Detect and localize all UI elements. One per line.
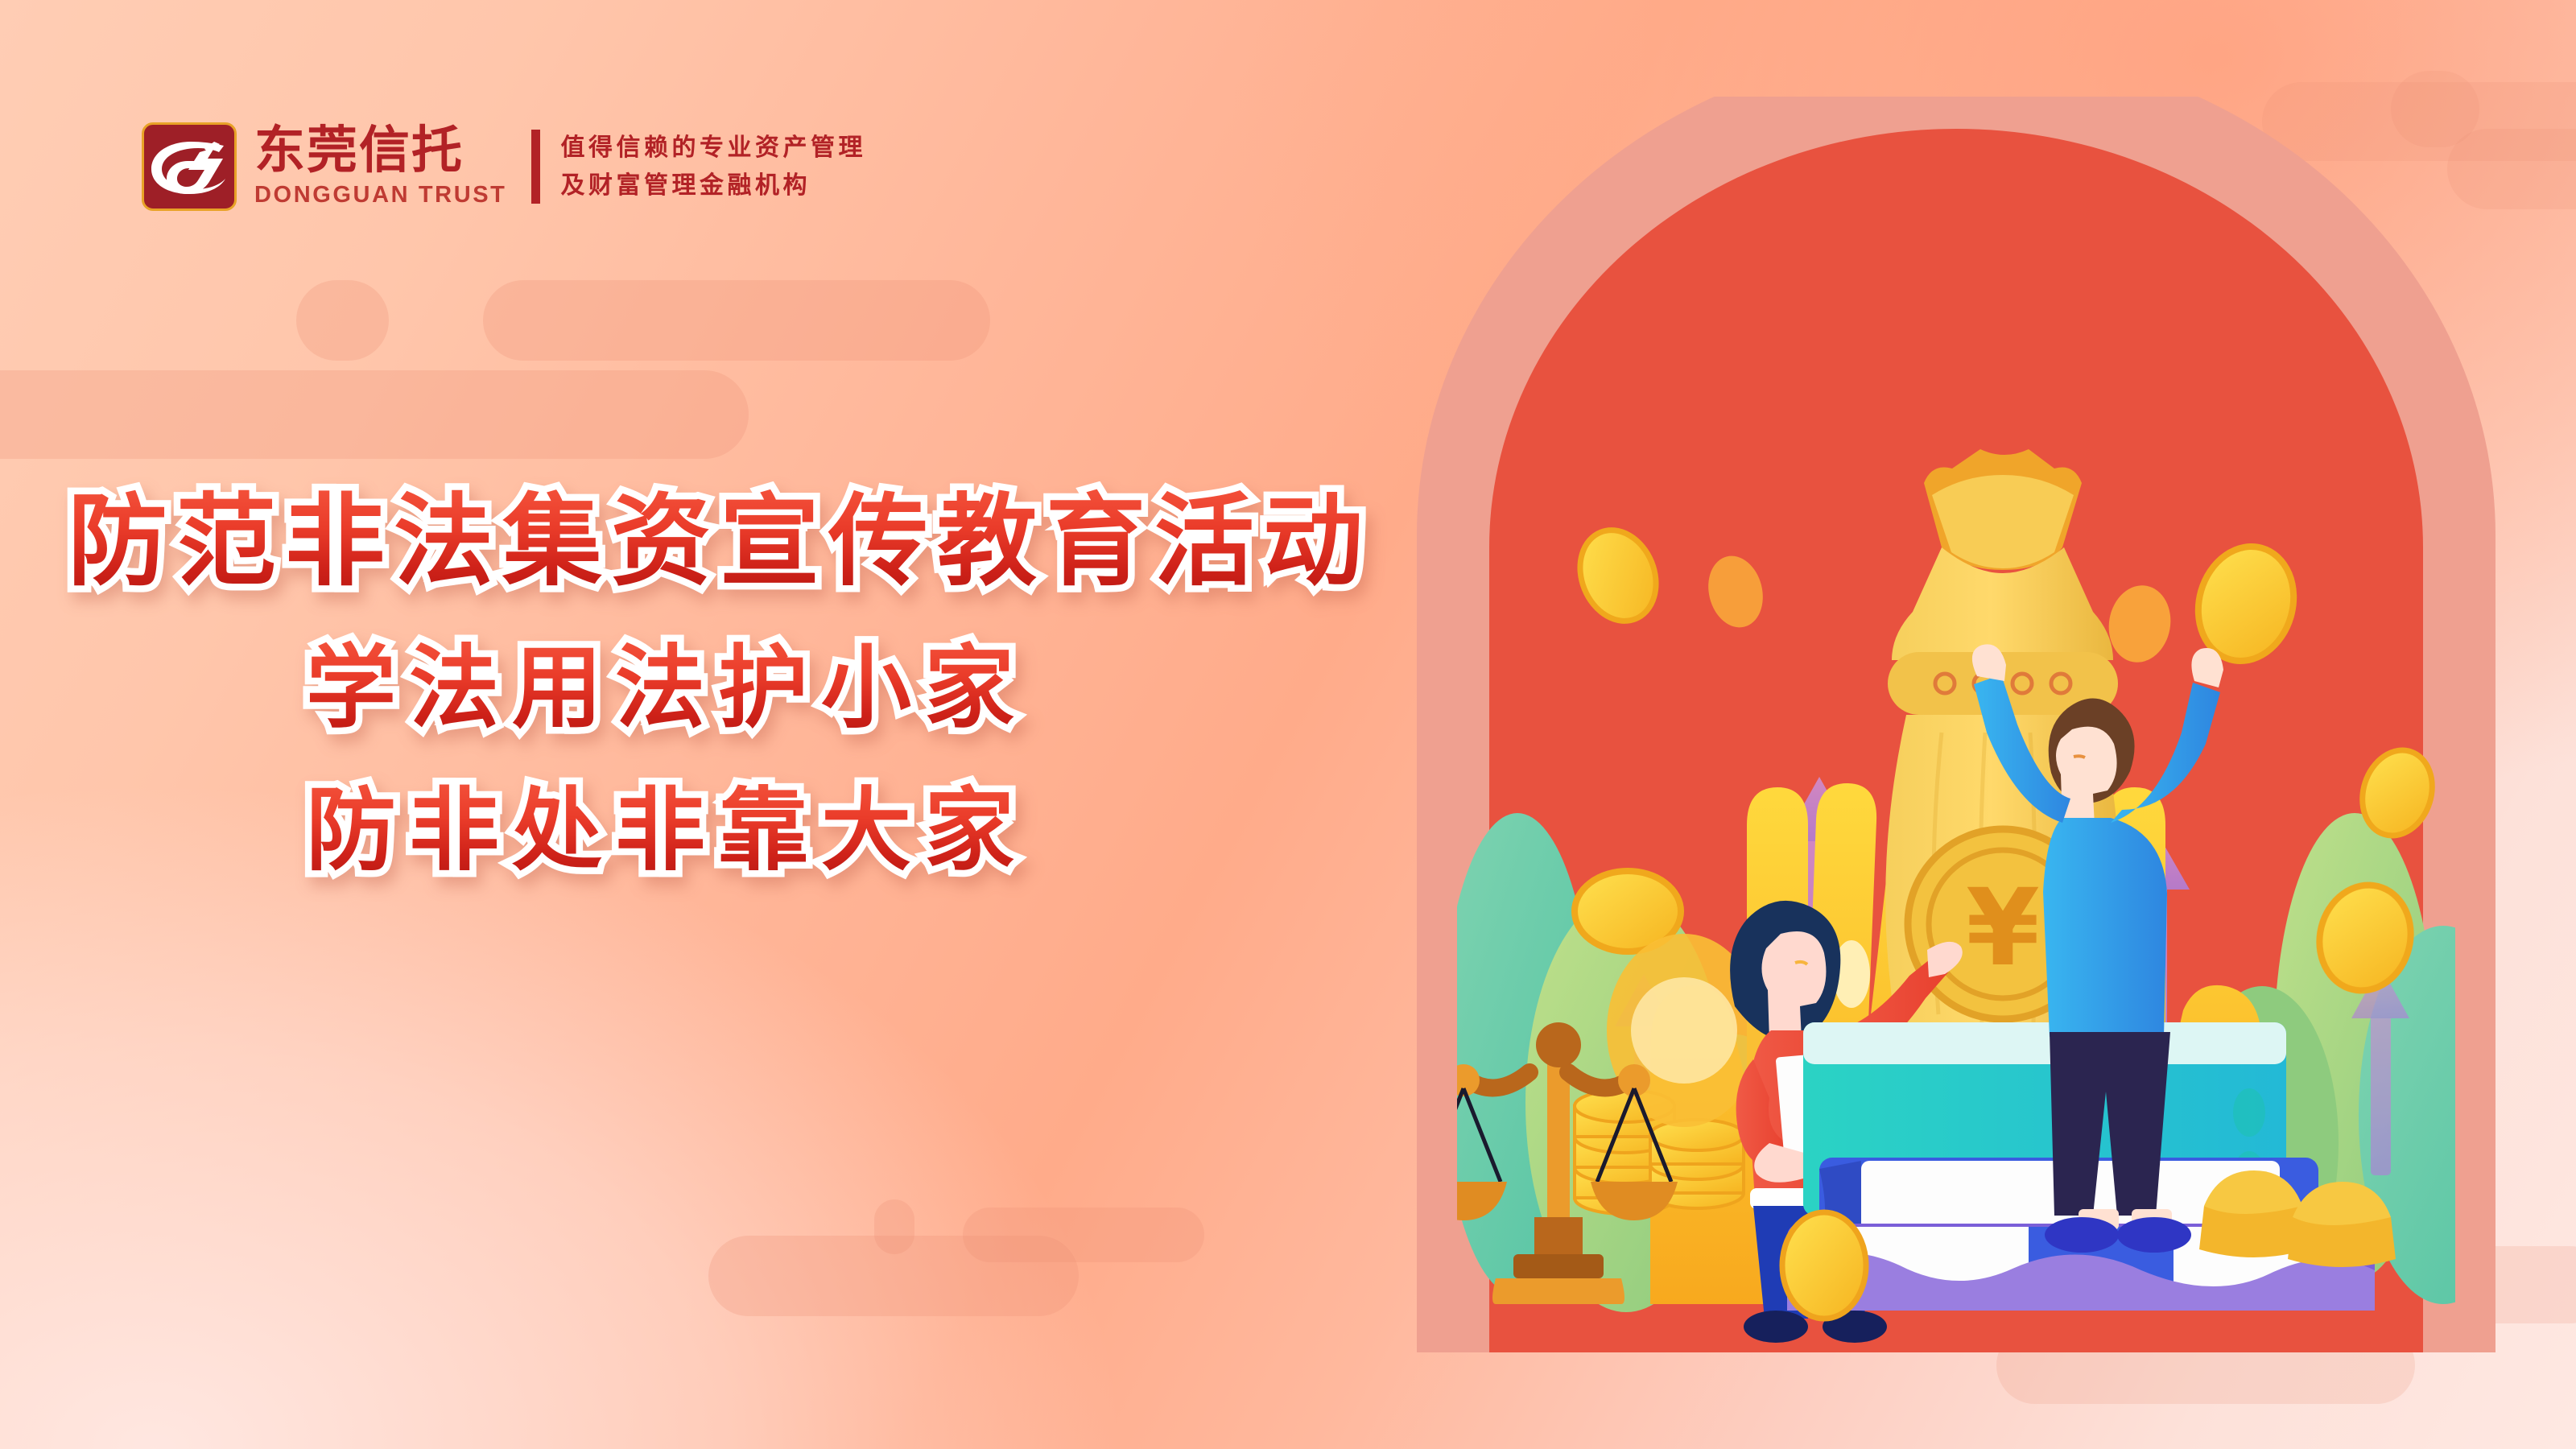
tagline-line-1: 值得信赖的专业资产管理 [561, 129, 867, 167]
brand-tagline: 值得信赖的专业资产管理 及财富管理金融机构 [561, 129, 867, 205]
deco-pill-6 [963, 1207, 1204, 1262]
deco-dot-1 [296, 280, 389, 361]
deco-pill-2 [483, 280, 990, 361]
headline-line-2-text: 学法用法护小家 [306, 634, 1027, 742]
headline-line-1-text: 防范非法集资宣传教育活动 [68, 483, 1372, 601]
headline-line-2: 学法用法护小家 学法用法护小家 [306, 634, 1027, 742]
poster-canvas: 东莞信托 DONGGUAN TRUST 值得信赖的专业资产管理 及财富管理金融机… [0, 0, 2576, 1449]
headline-line-3-text: 防非处非靠大家 [306, 777, 1027, 885]
deco-pill-1 [0, 370, 749, 459]
brand-name-en: DONGGUAN TRUST [254, 182, 507, 208]
yuan-symbol: ¥ [1966, 866, 2040, 990]
headline-line-1: 防范非法集资宣传教育活动 防范非法集资宣传教育活动 [68, 483, 1372, 601]
tagline-line-2: 及财富管理金融机构 [561, 167, 867, 204]
deco-dot-3 [874, 1199, 914, 1254]
headline-line-3: 防非处非靠大家 防非处非靠大家 [306, 777, 1027, 885]
headline-group: 防范非法集资宣传教育活动 防范非法集资宣传教育活动 学法用法护小家 学法用法护小… [0, 483, 1385, 885]
dongguan-trust-emblem-icon [142, 122, 237, 211]
illustration-anti-illegal-fundraising: ¥ [1368, 97, 2544, 1352]
brand-logo-block[interactable]: 东莞信托 DONGGUAN TRUST 值得信赖的专业资产管理 及财富管理金融机… [142, 122, 866, 211]
brand-name-cn: 东莞信托 [254, 125, 507, 176]
logo-divider [531, 130, 540, 204]
brand-wordmark: 东莞信托 DONGGUAN TRUST [254, 125, 507, 208]
